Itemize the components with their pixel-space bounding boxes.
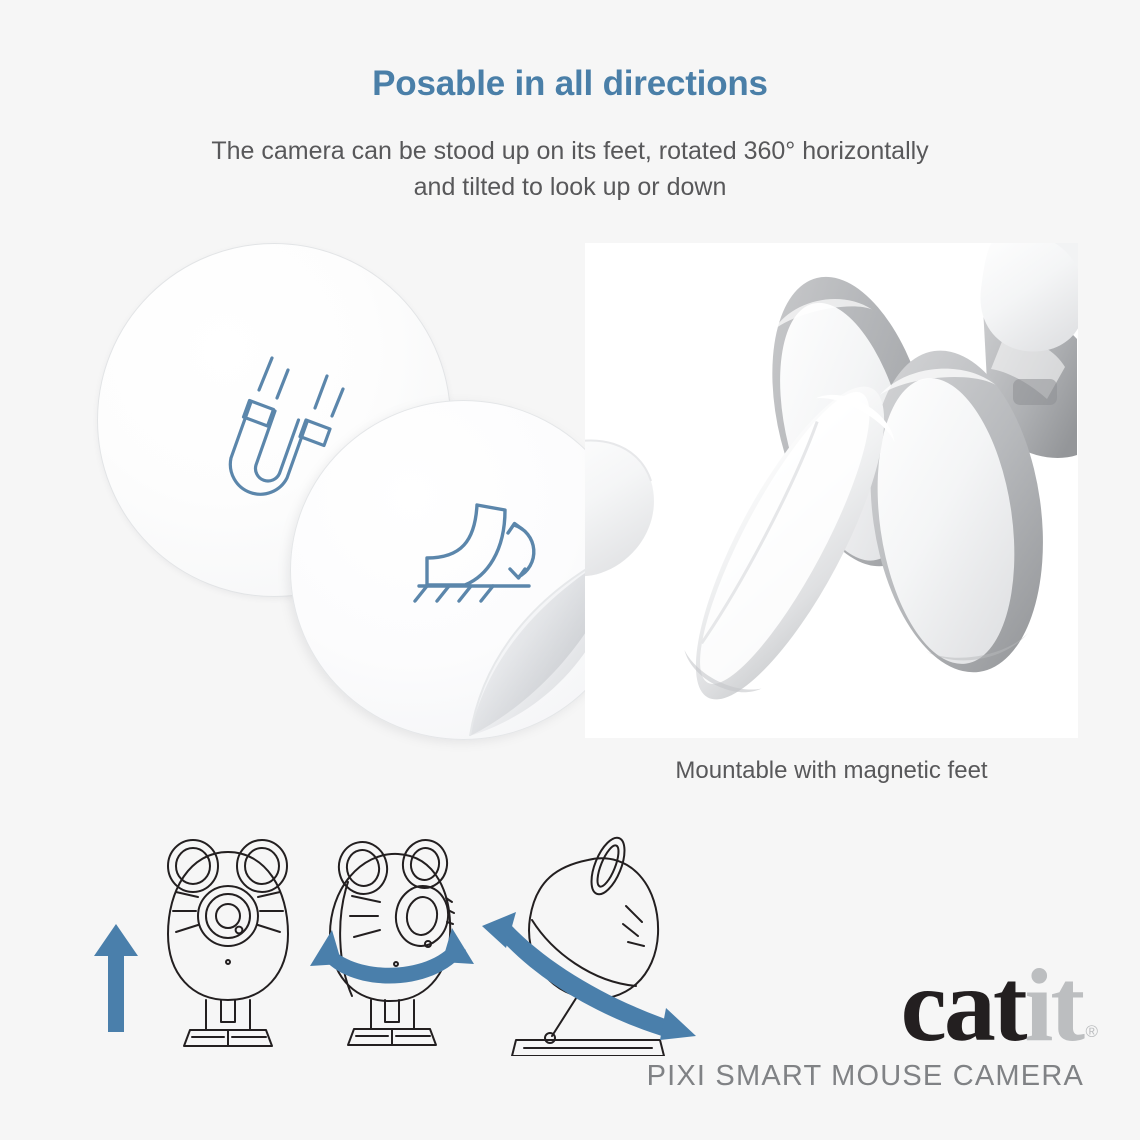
- tilting-foot-icon: [369, 489, 569, 649]
- up-arrow: [94, 924, 138, 1032]
- photo-caption: Mountable with magnetic feet: [585, 757, 1078, 785]
- infographic-canvas: Posable in all directions The camera can…: [0, 0, 1140, 1140]
- mouse-camera-front-icon: [168, 840, 288, 1046]
- mouse-camera-rotated-icon: [330, 837, 454, 1045]
- logo-text-it: it: [1024, 948, 1082, 1063]
- pose-diagram-row: [80, 824, 700, 1056]
- magnetic-feet-photo: [585, 243, 1078, 738]
- subtitle-line-2: and tilted to look up or down: [120, 169, 1020, 205]
- brand-lockup: catit ® PIXI SMART MOUSE CAMERA: [620, 960, 1100, 1110]
- photo-illustration: [585, 243, 1078, 738]
- page-title: Posable in all directions: [0, 64, 1140, 104]
- product-tagline: PIXI SMART MOUSE CAMERA: [647, 1060, 1084, 1093]
- logo-text-cat: cat: [901, 948, 1025, 1063]
- registered-trademark-icon: ®: [1085, 1022, 1098, 1042]
- page-subtitle: The camera can be stood up on its feet, …: [120, 133, 1020, 205]
- subtitle-line-1: The camera can be stood up on its feet, …: [120, 133, 1020, 169]
- catit-logo: catit: [901, 960, 1082, 1052]
